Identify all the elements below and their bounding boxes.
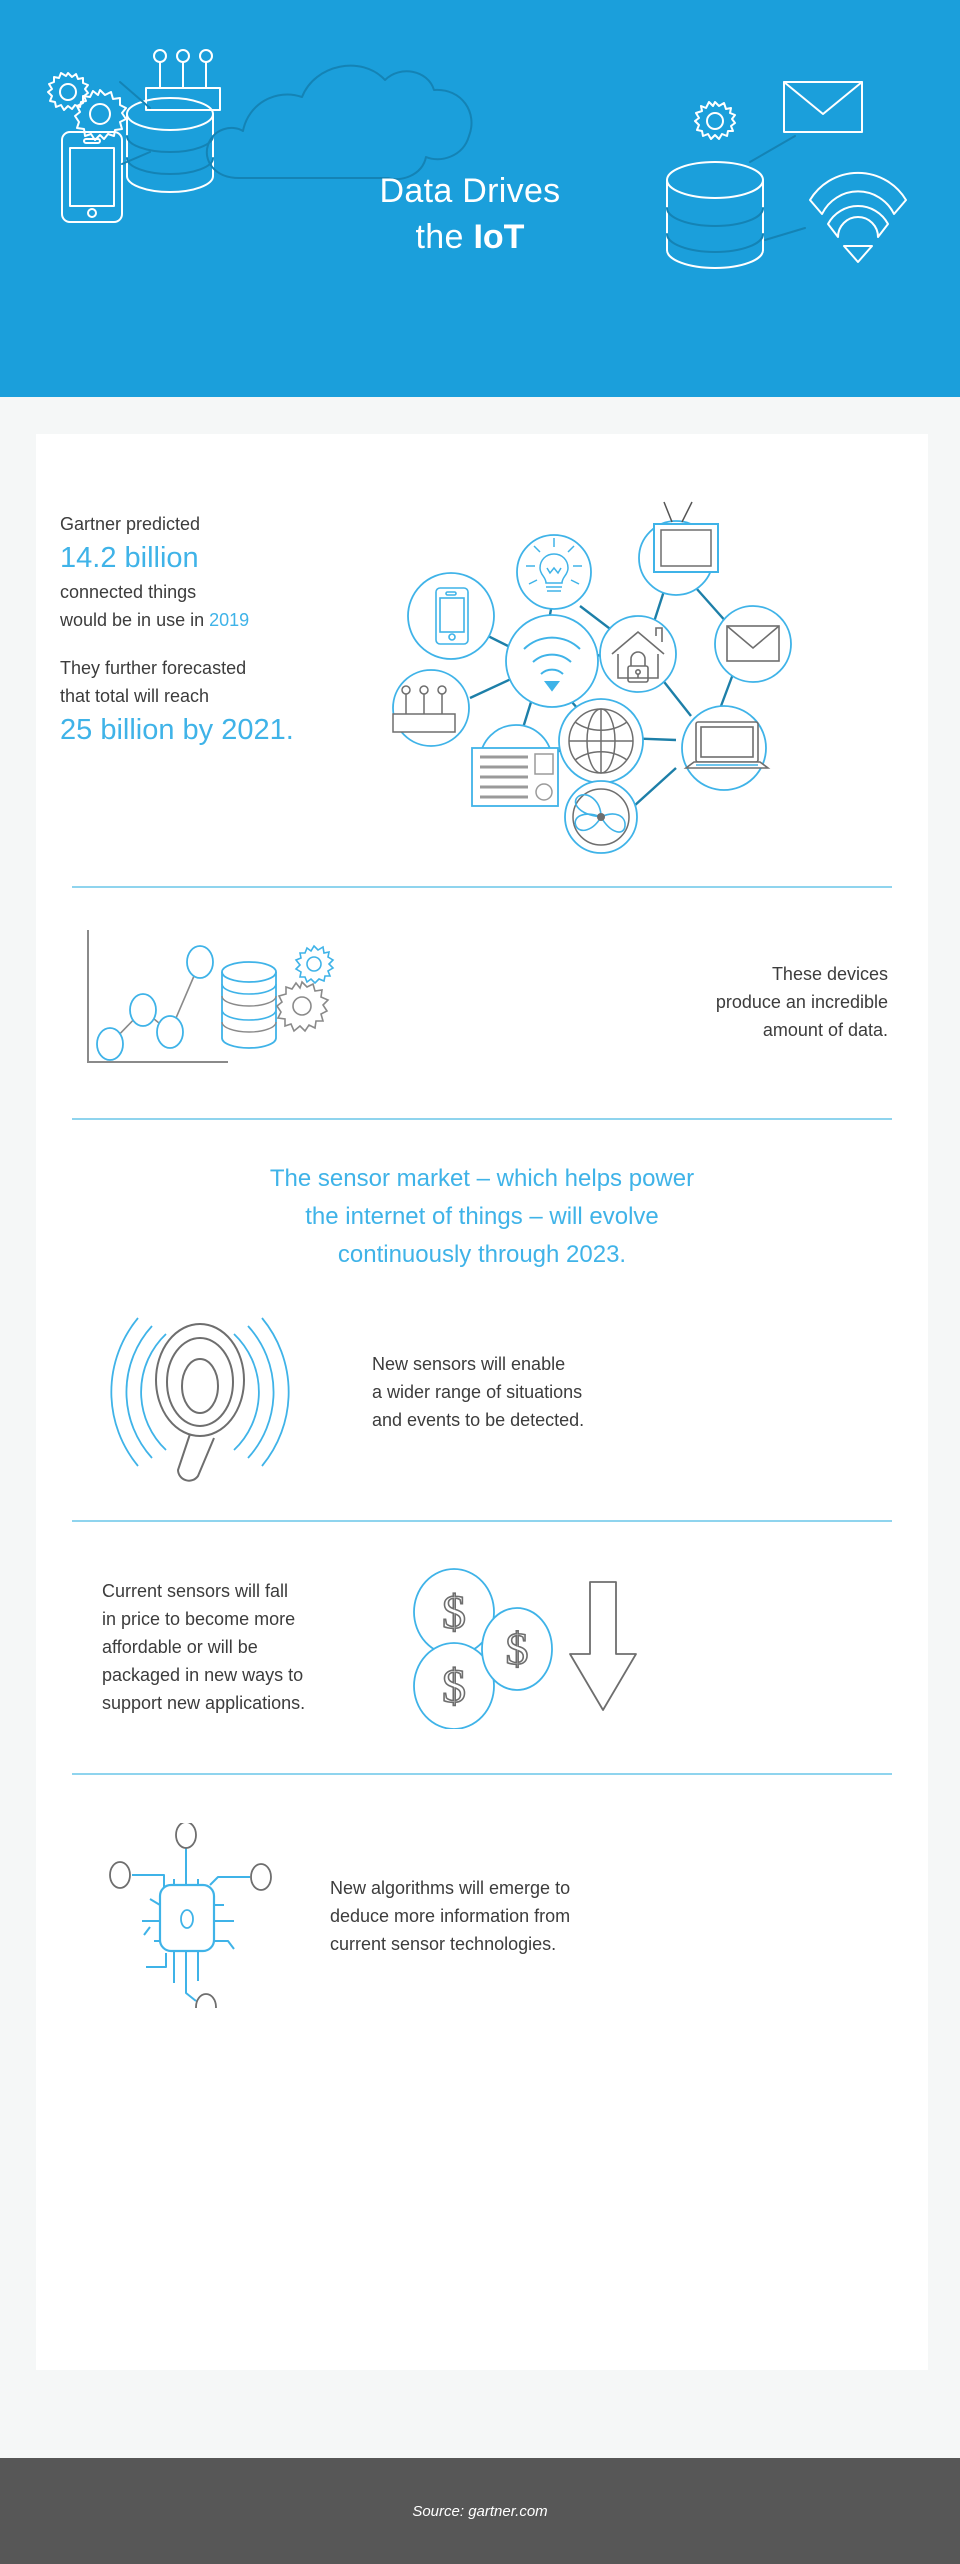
content-card: Gartner predicted 14.2 billion connected…	[36, 434, 928, 2370]
algorithms-text: New algorithms will emerge to deduce mor…	[308, 1874, 928, 1958]
sensor-price-text: Current sensors will fall in price to be…	[36, 1577, 336, 1717]
line-chart-database-gears	[76, 922, 376, 1082]
svg-text:$: $	[506, 1623, 529, 1674]
sensor-market-headline: The sensor market – which helps power th…	[36, 1160, 928, 1274]
link-db-envelope	[750, 136, 795, 162]
database-icon-left	[127, 98, 213, 192]
wifi-icon-header	[810, 173, 906, 262]
section-sensor-market: The sensor market – which helps power th…	[36, 1120, 928, 1520]
sensor-text-line-2: a wider range of situations	[372, 1382, 582, 1402]
sensor-headline-line-1: The sensor market – which helps power	[270, 1165, 694, 1192]
gartner-line-3-prefix: would be in use in	[60, 610, 209, 630]
price-line-5: support new applications.	[102, 1693, 305, 1713]
footer-bar: Source: gartner.com	[0, 2458, 960, 2564]
node-fan	[565, 781, 637, 853]
microchip-icon	[98, 1823, 308, 2008]
gartner-line-5: that total will reach	[60, 686, 209, 706]
link-tv-mail	[696, 588, 728, 624]
source-attribution: Source: gartner.com	[412, 2503, 547, 2520]
gartner-year-2019: 2019	[209, 610, 249, 630]
chart-data-points	[97, 946, 213, 1060]
iot-network-diagram	[376, 476, 796, 856]
page-title: Data Drives the IoT	[345, 168, 595, 260]
title-iot: IoT	[473, 218, 524, 256]
envelope-icon-header	[784, 82, 862, 132]
section-sensor-price: Current sensors will fall in price to be…	[36, 1522, 928, 1773]
price-line-2: in price to become more	[102, 1609, 295, 1629]
node-smartphone	[408, 573, 494, 659]
smartphone-icon	[62, 132, 122, 222]
gartner-line-1: Gartner predicted	[60, 514, 200, 534]
node-router	[393, 670, 469, 746]
chip-body	[160, 1885, 214, 1951]
gear-icon-small-blue	[296, 946, 333, 983]
sensor-headline-line-3: continuously through 2023.	[338, 1241, 626, 1268]
svg-text:$: $	[442, 1660, 466, 1713]
data-production-line-3: amount of data.	[763, 1020, 888, 1040]
dollar-coin-3: $	[482, 1608, 552, 1690]
dollar-coins-down-arrow: $ $ $	[412, 1564, 642, 1729]
infographic-page: Data Drives the IoT Gartner predicted 14…	[0, 0, 960, 2564]
section-new-algorithms: New algorithms will emerge to deduce mor…	[36, 1775, 928, 2058]
node-home-security	[600, 616, 676, 692]
sensor-detection-text: New sensors will enable a wider range of…	[334, 1350, 928, 1434]
db-ring-1	[127, 136, 213, 152]
database-stack-icon	[222, 962, 276, 1048]
sensor-text-line-3: and events to be detected.	[372, 1410, 584, 1430]
algorithms-line-2: deduce more information from	[330, 1906, 570, 1926]
algorithms-line-3: current sensor technologies.	[330, 1934, 556, 1954]
node-globe	[559, 699, 643, 783]
node-envelope	[715, 606, 791, 682]
node-newspaper	[472, 725, 558, 806]
data-production-line-1: These devices	[772, 964, 888, 984]
gartner-line-4: They further forecasted	[60, 658, 246, 678]
title-line-1: Data Drives	[345, 168, 595, 214]
down-arrow-icon	[570, 1582, 636, 1710]
router-icon	[146, 50, 220, 110]
node-television	[639, 502, 718, 595]
algorithms-line-1: New algorithms will emerge to	[330, 1878, 570, 1898]
sensor-text-line-1: New sensors will enable	[372, 1354, 565, 1374]
title-prefix: the	[416, 218, 474, 256]
svg-text:$: $	[442, 1586, 466, 1639]
data-production-text: These devices produce an incredible amou…	[376, 960, 928, 1044]
magnifier-icon	[156, 1324, 244, 1481]
price-line-3: affordable or will be	[102, 1637, 258, 1657]
db2-ring-1	[667, 208, 763, 226]
price-line-4: packaged in new ways to	[102, 1665, 303, 1685]
sensor-signal-icon	[94, 1302, 334, 1482]
gear-icon-right	[695, 102, 735, 139]
section-gartner-forecast: Gartner predicted 14.2 billion connected…	[36, 434, 928, 856]
text-gap	[60, 634, 366, 654]
link-db-wifi	[765, 228, 805, 240]
gear-icon-large-gray	[277, 982, 328, 1031]
gartner-line-2: connected things	[60, 582, 196, 602]
section-data-production: These devices produce an incredible amou…	[36, 888, 928, 1118]
header-banner: Data Drives the IoT	[0, 0, 960, 397]
link-home-laptop	[661, 678, 691, 716]
node-laptop	[682, 706, 768, 790]
gartner-text-block: Gartner predicted 14.2 billion connected…	[36, 476, 366, 750]
data-production-line-2: produce an incredible	[716, 992, 888, 1012]
node-wifi-hub	[506, 615, 598, 707]
db2-ring-2	[667, 234, 763, 252]
node-lightbulb	[517, 535, 591, 609]
sensor-headline-line-2: the internet of things – will evolve	[305, 1203, 659, 1230]
price-line-1: Current sensors will fall	[102, 1581, 288, 1601]
db-ring-2	[127, 158, 213, 174]
title-line-2: the IoT	[345, 214, 595, 260]
cloud-icon	[207, 66, 472, 180]
gartner-highlight-14-2-billion: 14.2 billion	[60, 538, 366, 578]
gartner-highlight-25-billion: 25 billion by 2021.	[60, 710, 366, 750]
